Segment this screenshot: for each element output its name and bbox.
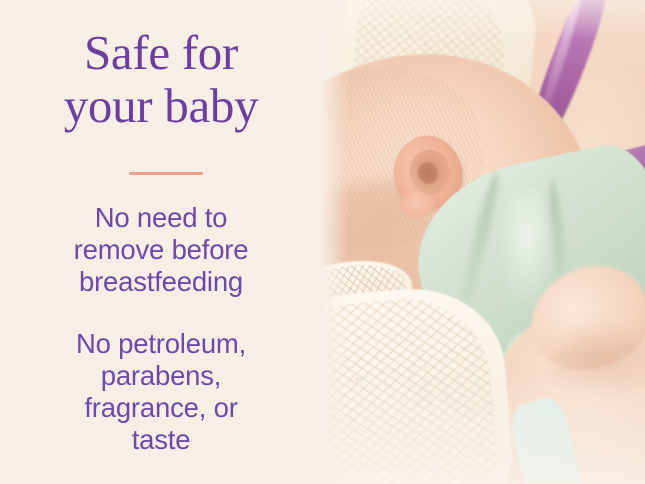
photo-top-blend: [322, 0, 645, 40]
benefit-2-line-3: fragrance, or: [0, 392, 322, 424]
divider-rule: [129, 172, 203, 175]
page-title: Safe for your baby: [0, 26, 322, 132]
benefit-2-line-1: No petroleum,: [0, 328, 322, 360]
benefit-paragraph-1: No need to remove before breastfeeding: [0, 202, 322, 298]
photo-bottom-blend: [322, 374, 645, 484]
headline-line-2: your baby: [0, 79, 322, 132]
benefit-1-line-2: remove before: [0, 234, 322, 266]
marketing-graphic: Safe for your baby No need to remove bef…: [0, 0, 645, 484]
photo-left-blend: [322, 0, 348, 484]
benefit-paragraph-2: No petroleum, parabens, fragrance, or ta…: [0, 328, 322, 456]
benefit-1-line-1: No need to: [0, 202, 322, 234]
headline-line-1: Safe for: [0, 26, 322, 79]
baby-ear-lobe: [400, 192, 434, 218]
benefit-1-line-3: breastfeeding: [0, 266, 322, 298]
benefit-2-line-4: taste: [0, 424, 322, 456]
text-panel: Safe for your baby No need to remove bef…: [0, 0, 322, 484]
benefit-2-line-2: parabens,: [0, 360, 322, 392]
breastfeeding-photo: [322, 0, 645, 484]
